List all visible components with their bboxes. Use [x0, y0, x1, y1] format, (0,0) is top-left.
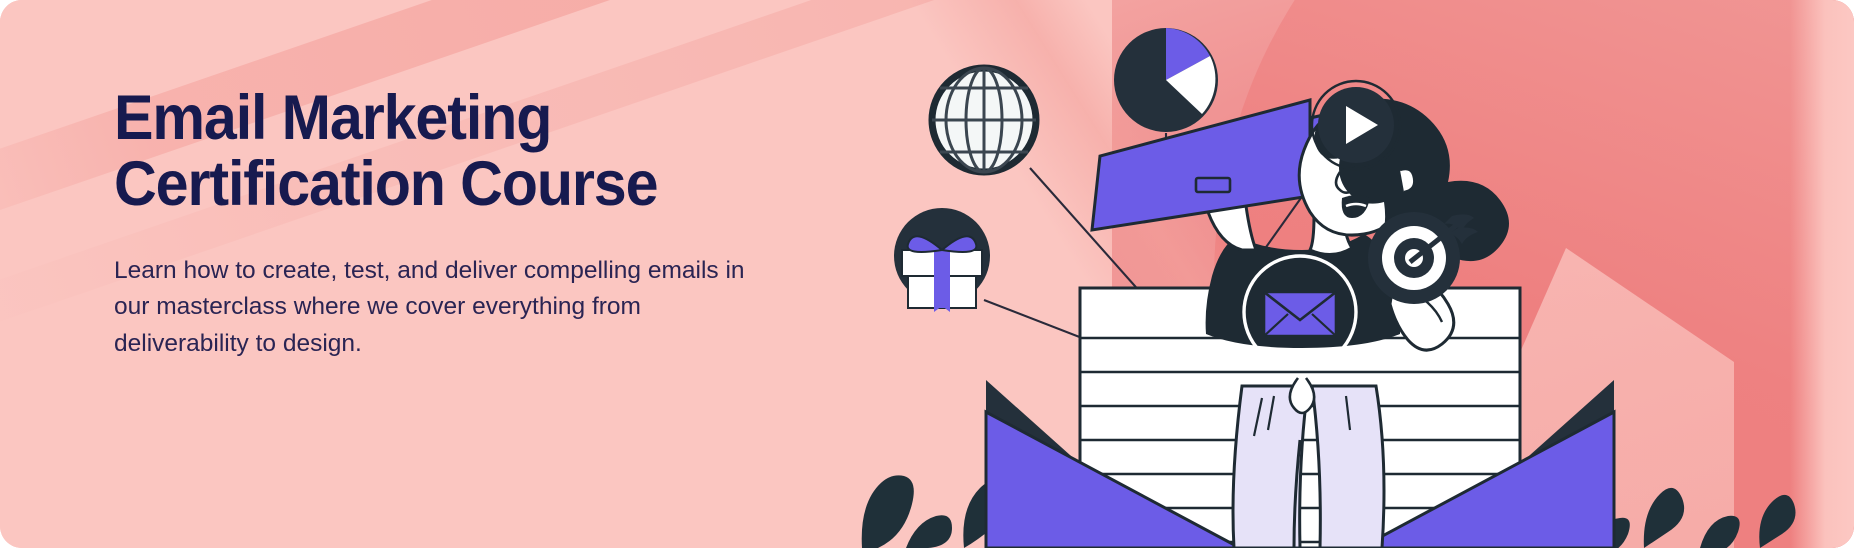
globe-icon [932, 68, 1036, 172]
hero-illustration [844, 0, 1854, 548]
play-button-icon [1312, 81, 1400, 169]
gift-icon [894, 208, 990, 312]
banner-text-column: Email Marketing Certification Course Lea… [114, 86, 814, 362]
email-marketing-banner: Email Marketing Certification Course Lea… [0, 0, 1854, 548]
pie-chart-icon [1114, 28, 1218, 132]
page-title: Email Marketing Certification Course [114, 86, 772, 217]
banner-description: Learn how to create, test, and deliver c… [114, 253, 754, 362]
